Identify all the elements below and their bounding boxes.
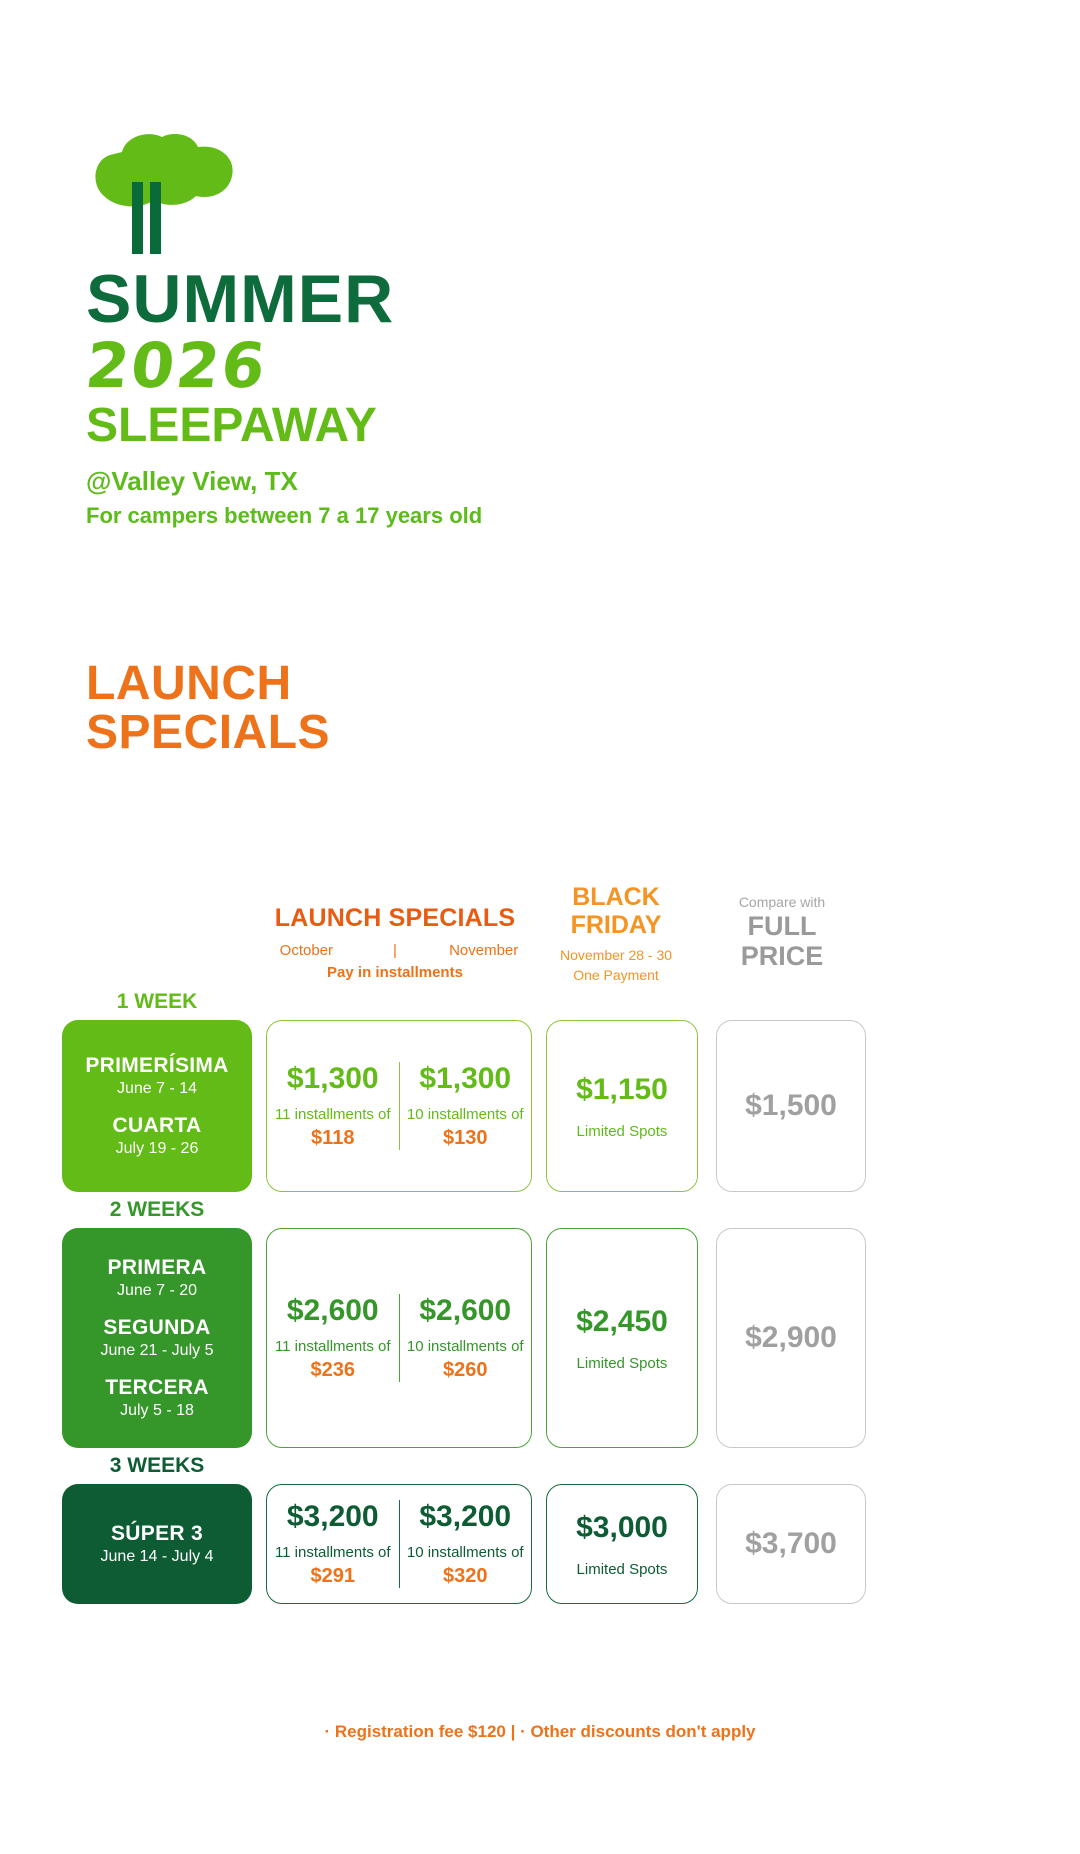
session-dates: June 14 - July 4 xyxy=(101,1548,214,1566)
launch-price-october: $3,20011 installments of$291 xyxy=(267,1500,399,1588)
pricing-row-cards: PRIMERAJune 7 - 20SEGUNDAJune 21 - July … xyxy=(62,1228,1022,1448)
launch-price-october: $2,60011 installments of$236 xyxy=(267,1294,399,1382)
installment-amount: $118 xyxy=(273,1127,393,1150)
installments-label: 10 installments of xyxy=(406,1338,526,1355)
full-price-compare-label: Compare with xyxy=(707,894,857,910)
pricing-row: 2 WEEKSPRIMERAJune 7 - 20SEGUNDAJune 21 … xyxy=(62,1198,1022,1448)
session-dates: July 19 - 26 xyxy=(113,1140,202,1158)
price-value: $2,600 xyxy=(406,1294,526,1328)
limited-spots-note: Limited Spots xyxy=(577,1561,668,1578)
pricing-row-cards: PRIMERÍSIMAJune 7 - 14CUARTAJuly 19 - 26… xyxy=(62,1020,1022,1192)
price-value: $1,300 xyxy=(406,1062,526,1096)
session-item: PRIMERAJune 7 - 20 xyxy=(108,1256,207,1300)
pricing-row: 3 WEEKSSÚPER 3June 14 - July 4$3,20011 i… xyxy=(62,1454,1022,1604)
title-summer: SUMMER xyxy=(86,265,786,334)
session-item: PRIMERÍSIMAJune 7 - 14 xyxy=(85,1054,228,1098)
installments-label: 11 installments of xyxy=(273,1106,393,1123)
black-friday-card[interactable]: $2,450Limited Spots xyxy=(546,1228,698,1448)
tree-trunk-right xyxy=(150,182,161,254)
price-value: $3,200 xyxy=(273,1500,393,1534)
black-friday-card[interactable]: $3,000Limited Spots xyxy=(546,1484,698,1604)
black-friday-price: $3,000 xyxy=(576,1511,668,1545)
limited-spots-note: Limited Spots xyxy=(577,1123,668,1140)
full-price-line-1: FULL xyxy=(707,912,857,942)
session-dates: June 7 - 14 xyxy=(85,1080,228,1098)
limited-spots-note: Limited Spots xyxy=(577,1355,668,1372)
price-value: $2,600 xyxy=(273,1294,393,1328)
price-value: $3,200 xyxy=(406,1500,526,1534)
session-name: TERCERA xyxy=(105,1376,209,1400)
installments-label: 10 installments of xyxy=(406,1544,526,1561)
session-item: CUARTAJuly 19 - 26 xyxy=(113,1114,202,1158)
bf-col-subtitle: One Payment xyxy=(540,967,692,983)
session-dates: June 7 - 20 xyxy=(108,1282,207,1300)
installment-amount: $291 xyxy=(273,1565,393,1588)
price-value: $1,300 xyxy=(273,1062,393,1096)
column-header-launch-specials: LAUNCH SPECIALS October | November Pay i… xyxy=(262,904,528,981)
installment-amount: $130 xyxy=(406,1127,526,1150)
session-name: SEGUNDA xyxy=(101,1316,214,1340)
session-item: SÚPER 3June 14 - July 4 xyxy=(101,1522,214,1566)
full-price-card[interactable]: $2,900 xyxy=(716,1228,866,1448)
session-name: CUARTA xyxy=(113,1114,202,1138)
launch-price-november: $1,30010 installments of$130 xyxy=(399,1062,532,1150)
full-price-value: $1,500 xyxy=(745,1089,837,1123)
poster-header: SUMMER 2026 SLEEPAWAY @Valley View, TX F… xyxy=(86,130,786,529)
tree-icon xyxy=(86,130,236,255)
promo-line-1: LAUNCH xyxy=(86,660,330,709)
session-item: TERCERAJuly 5 - 18 xyxy=(105,1376,209,1420)
session-name: PRIMERÍSIMA xyxy=(85,1054,228,1078)
launch-month-november: November xyxy=(439,942,528,959)
launch-col-title: LAUNCH SPECIALS xyxy=(262,904,528,933)
full-price-value: $2,900 xyxy=(745,1321,837,1355)
column-header-black-friday: BLACK FRIDAY November 28 - 30 One Paymen… xyxy=(540,883,692,983)
full-price-card[interactable]: $3,700 xyxy=(716,1484,866,1604)
location-text: @Valley View, TX xyxy=(86,466,786,497)
black-friday-card[interactable]: $1,150Limited Spots xyxy=(546,1020,698,1192)
session-box: PRIMERÍSIMAJune 7 - 14CUARTAJuly 19 - 26 xyxy=(62,1020,252,1192)
ages-text: For campers between 7 a 17 years old xyxy=(86,503,786,529)
session-dates: June 21 - July 5 xyxy=(101,1342,214,1360)
full-price-line-2: PRICE xyxy=(707,942,857,972)
launch-price-november: $3,20010 installments of$320 xyxy=(399,1500,532,1588)
installment-amount: $236 xyxy=(273,1359,393,1382)
column-headers: LAUNCH SPECIALS October | November Pay i… xyxy=(62,880,1022,990)
tree-trunk-left xyxy=(132,182,143,254)
week-duration-label: 2 WEEKS xyxy=(62,1198,252,1228)
bf-title-line-1: BLACK xyxy=(540,883,692,911)
full-price-title: FULL PRICE xyxy=(707,912,857,971)
bf-col-title: BLACK FRIDAY xyxy=(540,883,692,939)
installment-amount: $320 xyxy=(406,1565,526,1588)
launch-month-october: October xyxy=(262,942,351,959)
week-duration-label: 3 WEEKS xyxy=(62,1454,252,1484)
promo-heading: LAUNCH SPECIALS xyxy=(86,660,330,758)
full-price-value: $3,700 xyxy=(745,1527,837,1561)
pricing-row: 1 WEEKPRIMERÍSIMAJune 7 - 14CUARTAJuly 1… xyxy=(62,990,1022,1192)
launch-month-divider: | xyxy=(351,942,440,959)
launch-price-october: $1,30011 installments of$118 xyxy=(267,1062,399,1150)
week-duration-label: 1 WEEK xyxy=(62,990,252,1020)
installments-label: 11 installments of xyxy=(273,1544,393,1561)
installments-label: 10 installments of xyxy=(406,1106,526,1123)
pricing-rows: 1 WEEKPRIMERÍSIMAJune 7 - 14CUARTAJuly 1… xyxy=(62,990,1022,1604)
black-friday-price: $1,150 xyxy=(576,1073,668,1107)
installments-label: 11 installments of xyxy=(273,1338,393,1355)
launch-specials-card[interactable]: $3,20011 installments of$291$3,20010 ins… xyxy=(266,1484,532,1604)
launch-col-subtitle: Pay in installments xyxy=(262,964,528,981)
session-item: SEGUNDAJune 21 - July 5 xyxy=(101,1316,214,1360)
title-sleepaway: SLEEPAWAY xyxy=(86,401,786,452)
session-dates: July 5 - 18 xyxy=(105,1402,209,1420)
launch-specials-card[interactable]: $1,30011 installments of$118$1,30010 ins… xyxy=(266,1020,532,1192)
session-name: SÚPER 3 xyxy=(101,1522,214,1546)
poster-page: SUMMER 2026 SLEEPAWAY @Valley View, TX F… xyxy=(0,0,1080,1854)
pricing-row-cards: SÚPER 3June 14 - July 4$3,20011 installm… xyxy=(62,1484,1022,1604)
session-box: SÚPER 3June 14 - July 4 xyxy=(62,1484,252,1604)
black-friday-price: $2,450 xyxy=(576,1305,668,1339)
session-name: PRIMERA xyxy=(108,1256,207,1280)
launch-price-november: $2,60010 installments of$260 xyxy=(399,1294,532,1382)
launch-col-months: October | November xyxy=(262,942,528,959)
bf-title-line-2: FRIDAY xyxy=(540,911,692,939)
pricing-grid: LAUNCH SPECIALS October | November Pay i… xyxy=(62,880,1022,1610)
full-price-card[interactable]: $1,500 xyxy=(716,1020,866,1192)
session-box: PRIMERAJune 7 - 20SEGUNDAJune 21 - July … xyxy=(62,1228,252,1448)
launch-specials-card[interactable]: $2,60011 installments of$236$2,60010 ins… xyxy=(266,1228,532,1448)
bf-col-dates: November 28 - 30 xyxy=(540,947,692,963)
installment-amount: $260 xyxy=(406,1359,526,1382)
footer-note: · Registration fee $120 | · Other discou… xyxy=(0,1722,1080,1742)
title-year: 2026 xyxy=(83,334,790,398)
column-header-full-price: Compare with FULL PRICE xyxy=(707,894,857,971)
promo-line-2: SPECIALS xyxy=(86,709,330,758)
